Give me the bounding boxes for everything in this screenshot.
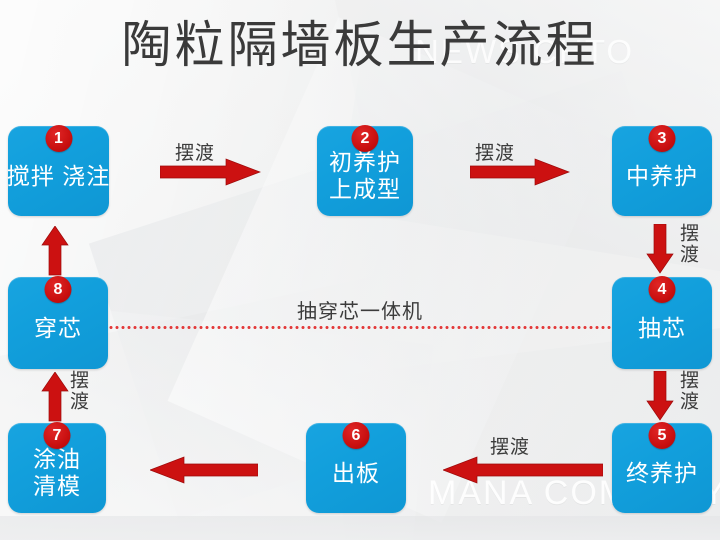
page-title: 陶粒隔墙板生产流程 [0,14,720,76]
node-badge-5: 5 [649,422,676,449]
node-label-line: 涂油 [33,446,81,473]
node-label-line: 抽芯 [638,315,686,342]
node-label-1: 搅拌 浇注 [7,163,110,190]
node-label-5: 终养护 [626,460,698,487]
node-label-line: 清模 [33,473,81,500]
node-badge-7: 7 [44,422,71,449]
arrow-right-icon-1-to-2 [160,158,261,186]
arrow-up-icon-7-to-8 [41,372,69,422]
arrow-left-icon-6-to-7 [150,456,258,484]
process-node-4[interactable]: 4 抽芯 [612,277,712,369]
process-node-8[interactable]: 8 穿芯 [8,277,108,369]
node-label-2: 初养护 上成型 [329,149,401,203]
process-node-1[interactable]: 1 搅拌 浇注 [8,126,109,216]
arrow-left-icon-5-to-6 [443,456,603,484]
arrow-up-icon-8-to-1 [41,226,69,276]
process-node-6[interactable]: 6 出板 [306,423,406,513]
arrow-right-icon-2-to-3 [470,158,570,186]
arrow-down-icon-3-to-4 [646,224,674,274]
node-label-3: 中养护 [626,163,698,190]
arrow-label-3-to-4: 摆渡 [676,223,699,265]
node-badge-2: 2 [352,125,379,152]
flowchart-canvas: NEWS CHTO MANA COMPANY 陶粒隔墙板生产流程 抽穿芯一体机 … [0,0,720,540]
node-badge-8: 8 [45,276,72,303]
separator-dotted-line [108,326,613,329]
node-label-6: 出板 [332,460,380,487]
node-label-line: 出板 [332,460,380,487]
node-label-4: 抽芯 [638,315,686,342]
node-label-line: 搅拌 浇注 [7,163,110,190]
background-bottom-band [0,516,720,540]
arrow-down-icon-4-to-5 [646,371,674,421]
node-badge-3: 3 [649,125,676,152]
node-label-line: 上成型 [329,176,401,203]
node-label-line: 初养护 [329,149,401,176]
node-badge-6: 6 [343,422,370,449]
node-label-line: 中养护 [626,163,698,190]
node-label-7: 涂油 清模 [33,446,81,500]
arrow-label-7-to-8: 摆渡 [66,370,89,412]
process-node-2[interactable]: 2 初养护 上成型 [317,126,413,216]
node-label-8: 穿芯 [34,315,82,342]
node-badge-4: 4 [649,276,676,303]
process-node-3[interactable]: 3 中养护 [612,126,712,216]
arrow-label-4-to-5: 摆渡 [676,370,699,412]
process-node-7[interactable]: 7 涂油 清模 [8,423,106,513]
process-node-5[interactable]: 5 终养护 [612,423,712,513]
node-label-line: 穿芯 [34,315,82,342]
node-badge-1: 1 [45,125,72,152]
node-label-line: 终养护 [626,460,698,487]
